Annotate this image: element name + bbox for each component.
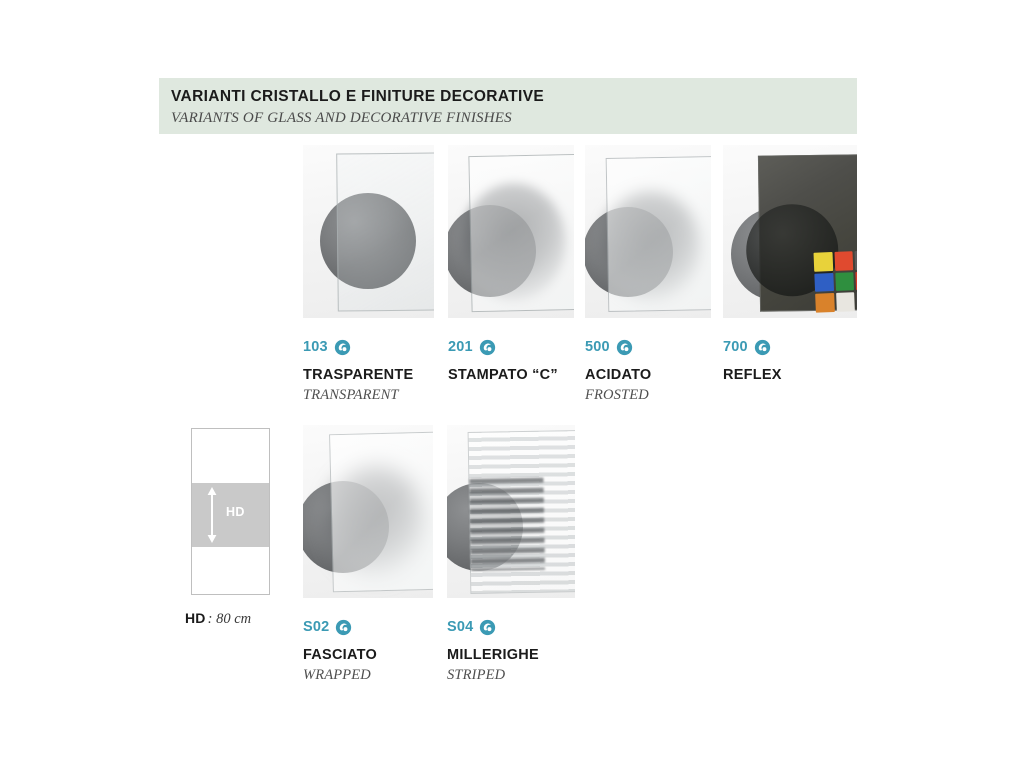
sample-card-s04[interactable]: S04 MILLERIGHE STRIPED bbox=[447, 425, 575, 685]
sample-name-english: FROSTED bbox=[585, 386, 711, 405]
cube-tile bbox=[815, 293, 834, 312]
sample-name-italian: REFLEX bbox=[723, 366, 857, 385]
glass-pane bbox=[468, 430, 575, 594]
sample-code: 201 bbox=[448, 338, 473, 356]
cube-tile bbox=[834, 251, 853, 270]
sample-card-103[interactable]: 103 TRASPARENTE TRANSPARENT bbox=[303, 145, 434, 405]
sphere-striped-refraction bbox=[469, 478, 545, 571]
sample-name-italian: FASCIATO bbox=[303, 646, 433, 665]
sample-image-reflex bbox=[723, 145, 857, 318]
sample-code: S02 bbox=[303, 618, 329, 636]
cube-tile bbox=[835, 272, 854, 291]
sample-image-millerighe bbox=[447, 425, 575, 598]
sample-code-row: S04 bbox=[447, 618, 575, 636]
glass-pane bbox=[336, 152, 434, 311]
glass-swatch-icon bbox=[479, 619, 496, 636]
sample-code-row: S02 bbox=[303, 618, 433, 636]
sample-name-english: WRAPPED bbox=[303, 666, 433, 685]
section-title-italian: VARIANTI CRISTALLO E FINITURE DECORATIVE bbox=[171, 87, 857, 107]
sample-image-stampato bbox=[448, 145, 574, 318]
glass-swatch-icon bbox=[334, 339, 351, 356]
sample-name-italian: ACIDATO bbox=[585, 366, 711, 385]
hd-caption: HD: 80 cm bbox=[185, 609, 251, 628]
hd-dimension-diagram: HD bbox=[191, 428, 270, 595]
glass-pane bbox=[468, 154, 574, 312]
sample-image-trasparente bbox=[303, 145, 434, 318]
sample-code-row: 103 bbox=[303, 338, 434, 356]
sample-image-acidato bbox=[585, 145, 711, 318]
color-cube-reflection bbox=[814, 250, 857, 312]
hd-caption-key: HD bbox=[185, 610, 206, 626]
cube-tile bbox=[856, 292, 857, 311]
glass-swatch-icon bbox=[616, 339, 633, 356]
sample-code-row: 700 bbox=[723, 338, 857, 356]
cube-tile bbox=[855, 250, 857, 269]
sample-card-700[interactable]: 700 REFLEX bbox=[723, 145, 857, 386]
frosted-veil bbox=[607, 157, 711, 311]
mirror-glass-pane bbox=[758, 154, 857, 311]
cube-tile bbox=[814, 273, 833, 292]
glass-swatch-icon bbox=[754, 339, 771, 356]
sample-name-english: STRIPED bbox=[447, 666, 575, 685]
sample-code-row: 201 bbox=[448, 338, 574, 356]
sample-name-english: TRANSPARENT bbox=[303, 386, 434, 405]
sample-card-201[interactable]: 201 STAMPATO “C” bbox=[448, 145, 574, 386]
glass-swatch-icon bbox=[479, 339, 496, 356]
textured-veil bbox=[469, 155, 574, 311]
glass-pane bbox=[606, 156, 711, 312]
cube-tile bbox=[856, 271, 857, 290]
section-title-english: VARIANTS OF GLASS AND DECORATIVE FINISHE… bbox=[171, 108, 857, 129]
cube-tile bbox=[836, 292, 855, 311]
hd-band-label: HD bbox=[226, 505, 245, 519]
section-header-banner: VARIANTI CRISTALLO E FINITURE DECORATIVE… bbox=[159, 78, 857, 134]
sample-code: 103 bbox=[303, 338, 328, 356]
glass-pane bbox=[329, 432, 433, 593]
sample-name-italian: TRASPARENTE bbox=[303, 366, 434, 385]
sample-name-italian: STAMPATO “C” bbox=[448, 366, 574, 385]
glass-swatch-icon bbox=[335, 619, 352, 636]
sample-card-s02[interactable]: S02 FASCIATO WRAPPED bbox=[303, 425, 433, 685]
hd-double-arrow-icon bbox=[206, 487, 218, 543]
sample-code-row: 500 bbox=[585, 338, 711, 356]
catalog-page: VARIANTI CRISTALLO E FINITURE DECORATIVE… bbox=[0, 0, 1024, 768]
sample-code: 700 bbox=[723, 338, 748, 356]
sample-card-500[interactable]: 500 ACIDATO FROSTED bbox=[585, 145, 711, 405]
sample-code: S04 bbox=[447, 618, 473, 636]
sample-image-fasciato bbox=[303, 425, 433, 598]
wrapped-veil bbox=[330, 433, 433, 591]
sample-name-italian: MILLERIGHE bbox=[447, 646, 575, 665]
sample-code: 500 bbox=[585, 338, 610, 356]
hd-caption-value: : 80 cm bbox=[208, 611, 252, 627]
cube-tile bbox=[814, 252, 833, 271]
